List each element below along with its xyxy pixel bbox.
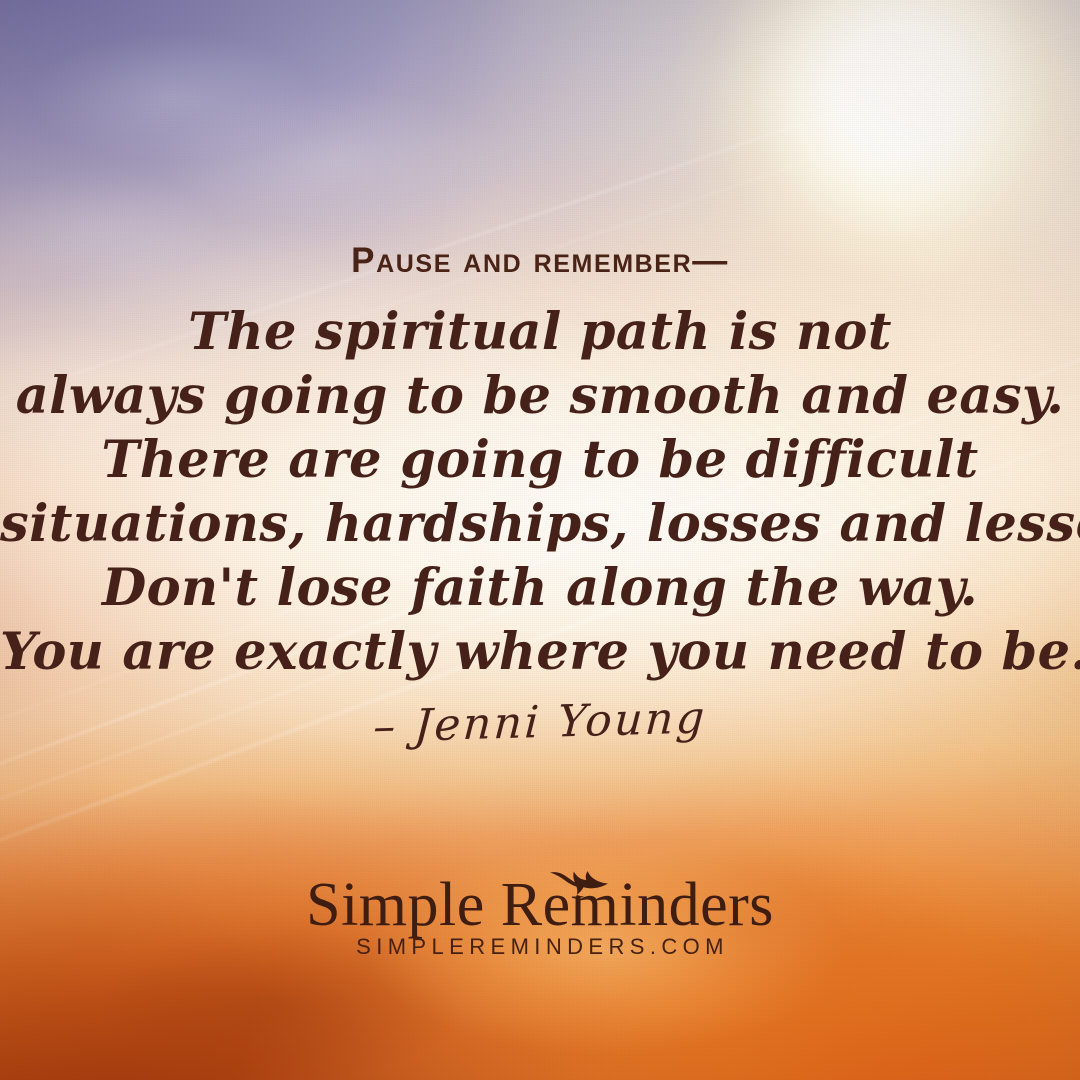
kicker-heading: Pause and remember— bbox=[0, 241, 1080, 281]
flying-bird-icon bbox=[548, 866, 610, 900]
quote-line: The spiritual path is not bbox=[0, 300, 1080, 364]
quote-block: The spiritual path is not always going t… bbox=[0, 300, 1080, 684]
quote-line: situations, hardships, losses and lesson… bbox=[0, 492, 1080, 556]
quote-line: There are going to be difficult bbox=[0, 428, 1080, 492]
quote-card: Pause and remember— The spiritual path i… bbox=[0, 0, 1080, 1080]
quote-line: Don't lose faith along the way. bbox=[0, 556, 1080, 620]
author-signature: – Jenni Young bbox=[0, 682, 1080, 763]
quote-line: You are exactly where you need to be. bbox=[0, 620, 1080, 684]
brand-lockup[interactable]: Simple Reminders SIMPLEREMINDERS.COM bbox=[0, 872, 1080, 960]
brand-name: Simple Reminders bbox=[0, 872, 1080, 938]
quote-line: always going to be smooth and easy. bbox=[0, 364, 1080, 428]
brand-url[interactable]: SIMPLEREMINDERS.COM bbox=[0, 934, 1080, 960]
